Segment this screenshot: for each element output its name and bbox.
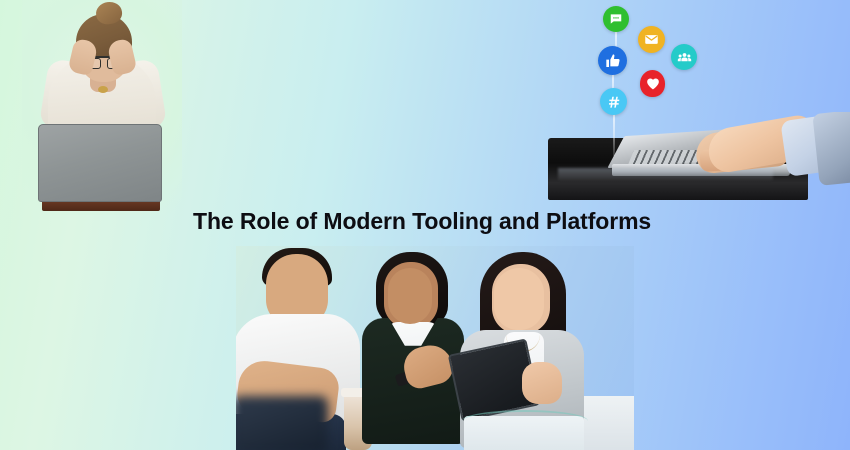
page-title: The Role of Modern Tooling and Platforms bbox=[193, 208, 651, 235]
thumbs-up-icon[interactable] bbox=[598, 46, 627, 75]
woman-c-hand bbox=[522, 362, 562, 404]
social-icon-cluster bbox=[595, 0, 725, 140]
shirt-sleeve bbox=[812, 112, 850, 186]
photo-stressed-woman-at-laptop bbox=[22, 0, 182, 215]
photo-team-collaborating bbox=[236, 246, 634, 450]
pin-people bbox=[671, 44, 697, 70]
woman-c-face bbox=[494, 268, 544, 330]
heart-icon[interactable] bbox=[640, 70, 665, 97]
blurred-foreground-object bbox=[236, 396, 328, 450]
hashtag-icon[interactable] bbox=[600, 88, 627, 115]
woman-b-face bbox=[388, 268, 432, 324]
pin-hashtag bbox=[600, 88, 627, 115]
mail-icon[interactable] bbox=[638, 26, 665, 53]
chat-icon[interactable] bbox=[603, 6, 629, 32]
pin-mail bbox=[638, 26, 665, 53]
pin-thumbs-up bbox=[598, 46, 627, 75]
slide-canvas: The Role of Modern Tooling and Platforms bbox=[0, 0, 850, 450]
laptop-lid bbox=[38, 124, 162, 202]
people-icon[interactable] bbox=[671, 44, 697, 70]
pin-heart bbox=[640, 70, 665, 97]
pin-chat bbox=[603, 6, 629, 32]
woman-necklace bbox=[98, 86, 108, 93]
decorative-wave bbox=[462, 410, 588, 432]
